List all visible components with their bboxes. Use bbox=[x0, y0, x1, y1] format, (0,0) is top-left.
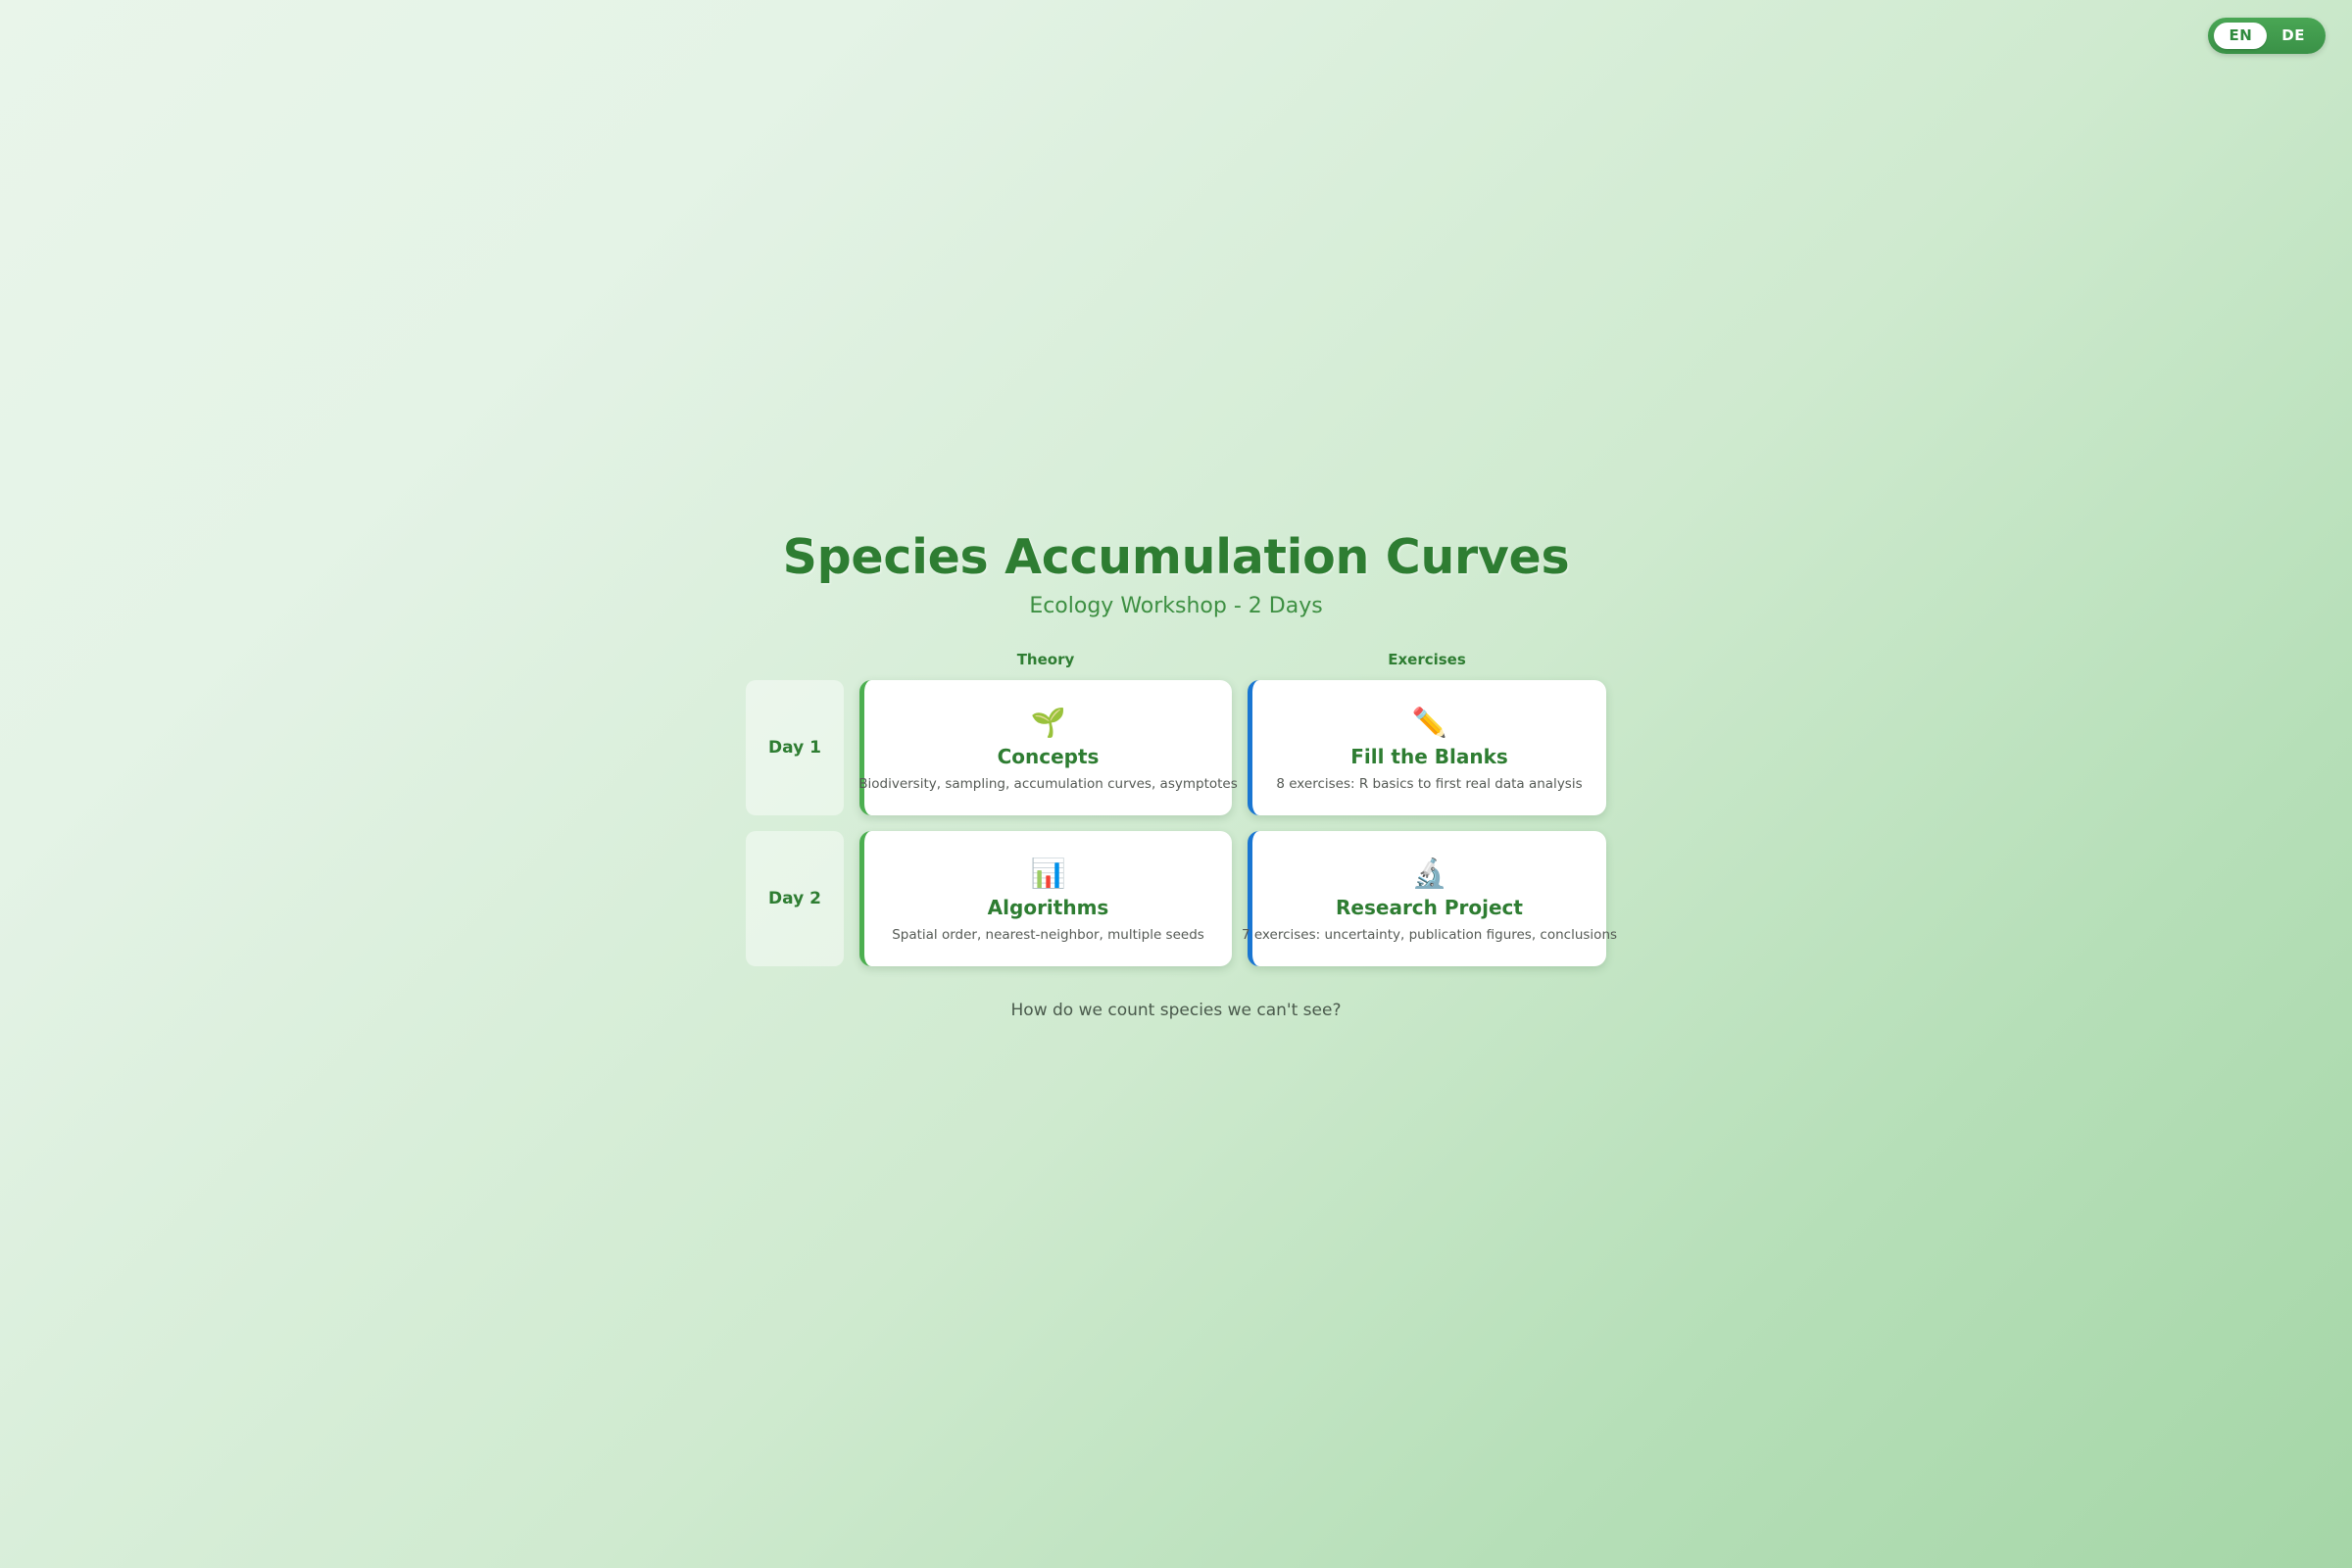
card-theory-day1[interactable]: 🌱 Concepts Biodiversity, sampling, accum… bbox=[859, 680, 1232, 815]
card-title: Fill the Blanks bbox=[1350, 745, 1508, 769]
card-description: 7 exercises: uncertainty, publication fi… bbox=[1242, 927, 1617, 944]
language-option-de[interactable]: DE bbox=[2267, 23, 2320, 49]
language-toggle[interactable]: EN DE bbox=[2208, 18, 2326, 54]
day-label-1: Day 1 bbox=[746, 680, 844, 815]
column-header-theory: Theory bbox=[859, 651, 1232, 668]
seedling-icon: 🌱 bbox=[1030, 706, 1065, 739]
footer-note: How do we count species we can't see? bbox=[1011, 1000, 1342, 1021]
card-description: Spatial order, nearest-neighbor, multipl… bbox=[892, 927, 1204, 944]
page-subtitle: Ecology Workshop - 2 Days bbox=[1029, 593, 1322, 620]
schedule-grid: Theory Exercises Day 1 🌱 Concepts Biodiv… bbox=[746, 647, 1606, 974]
microscope-icon: 🔬 bbox=[1411, 857, 1446, 890]
card-title: Research Project bbox=[1336, 896, 1523, 920]
language-option-en[interactable]: EN bbox=[2214, 23, 2267, 49]
card-exercise-day1[interactable]: ✏️ Fill the Blanks 8 exercises: R basics… bbox=[1248, 680, 1606, 815]
column-header-exercises: Exercises bbox=[1248, 651, 1606, 668]
bar-chart-icon: 📊 bbox=[1030, 857, 1065, 890]
card-description: Biodiversity, sampling, accumulation cur… bbox=[858, 776, 1238, 793]
card-exercise-day2[interactable]: 🔬 Research Project 7 exercises: uncertai… bbox=[1248, 831, 1606, 966]
pencil-icon: ✏️ bbox=[1411, 706, 1446, 739]
page-title: Species Accumulation Curves bbox=[783, 529, 1570, 586]
day-label-2: Day 2 bbox=[746, 831, 844, 966]
main-stage: Species Accumulation Curves Ecology Work… bbox=[0, 529, 2352, 1021]
card-title: Concepts bbox=[998, 745, 1100, 769]
card-description: 8 exercises: R basics to first real data… bbox=[1276, 776, 1582, 793]
card-theory-day2[interactable]: 📊 Algorithms Spatial order, nearest-neig… bbox=[859, 831, 1232, 966]
card-title: Algorithms bbox=[988, 896, 1109, 920]
